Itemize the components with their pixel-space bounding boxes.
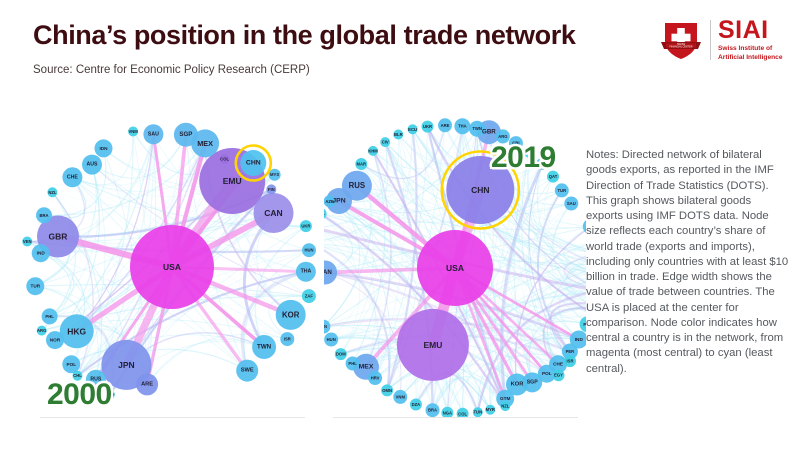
graph-node-ven[interactable] — [22, 237, 32, 247]
graph-node-usa[interactable] — [130, 225, 214, 309]
graph-node-can[interactable] — [324, 261, 337, 285]
logo-wordmark: SIAI Swiss Institute of Artificial Intel… — [718, 18, 783, 61]
graph-node-mar[interactable] — [355, 158, 367, 170]
graph-node-twn[interactable] — [252, 335, 276, 359]
logo-subtitle: Swiss Institute of Artificial Intelligen… — [718, 45, 783, 61]
graph-node-chl[interactable] — [73, 371, 83, 381]
network-graph-2000: USAEMUJPNCANGBRHKGMEXKORCHNTWNSGPSWEARES… — [22, 112, 322, 422]
graph-node-hou[interactable] — [105, 390, 115, 400]
graph-node-kor[interactable] — [276, 300, 306, 330]
graph-node-usa[interactable] — [417, 230, 493, 306]
graph-node-irq[interactable] — [524, 146, 536, 158]
graph-node-che[interactable] — [62, 167, 82, 187]
graph-node-ukr[interactable] — [422, 121, 434, 133]
logo-brand-name: SIAI — [718, 18, 783, 43]
graph-node-pol[interactable] — [62, 355, 80, 373]
graph-node-myr[interactable] — [485, 405, 495, 415]
graph-node-can[interactable] — [254, 193, 294, 233]
graph-node-blr[interactable] — [393, 130, 403, 140]
graph-node-bra[interactable] — [426, 403, 440, 417]
graph-node-idn[interactable] — [95, 139, 113, 157]
graph-node-are[interactable] — [136, 373, 158, 395]
graph-node-egy[interactable] — [553, 369, 565, 381]
graph-node-chn[interactable] — [446, 156, 514, 224]
network-graph-2019-canvas: USACHNEMURUSJPNMEXGBRKORGTMSGPPOLCHEPERI… — [324, 118, 586, 418]
graph-node-col[interactable] — [220, 154, 230, 164]
graph-node-phl[interactable] — [346, 357, 360, 371]
graph-node-emu[interactable] — [397, 309, 469, 381]
notes-paragraph: Notes: Directed network of bilateral goo… — [586, 148, 790, 377]
network-graph-2019: USACHNEMURUSJPNMEXGBRKORGTMSGPPOLCHEPERI… — [324, 118, 586, 418]
slide-root: China’s position in the global trade net… — [0, 0, 800, 450]
swiss-shield-icon: SWISS FINANCIAL CENTER — [659, 18, 703, 62]
graph-node-ecu[interactable] — [408, 124, 418, 134]
graph-node-isr[interactable] — [280, 332, 294, 346]
graph-node-zaf[interactable] — [302, 289, 316, 303]
panel-baseline-2019 — [333, 417, 578, 418]
graph-node-ind[interactable] — [32, 244, 50, 262]
panel-baseline-2000 — [40, 417, 305, 418]
network-graph-2000-canvas: USAEMUJPNCANGBRHKGMEXKORCHNTWNSGPSWEARES… — [22, 112, 322, 422]
graph-node-hrv[interactable] — [368, 371, 382, 385]
graph-node-are[interactable] — [438, 118, 452, 132]
graph-node-sau[interactable] — [143, 124, 163, 144]
graph-node-omn[interactable] — [381, 384, 393, 396]
graph-node-arg[interactable] — [496, 129, 510, 143]
graph-node-tur[interactable] — [555, 183, 569, 197]
graph-node-dnk[interactable] — [536, 158, 548, 170]
svg-text:FINANCIAL CENTER: FINANCIAL CENTER — [670, 46, 693, 49]
page-title: China’s position in the global trade net… — [33, 20, 575, 51]
graph-node-qat[interactable] — [547, 171, 559, 183]
graph-node-chn[interactable] — [240, 150, 266, 176]
graph-node-aus[interactable] — [82, 155, 102, 175]
graph-edge — [27, 242, 98, 380]
graph-node-nzl[interactable] — [47, 187, 57, 197]
graph-node-phl[interactable] — [42, 308, 58, 324]
graph-node-tur[interactable] — [26, 277, 44, 295]
source-caption: Source: Centre for Economic Policy Resea… — [33, 64, 310, 76]
graph-node-sgp[interactable] — [174, 123, 198, 147]
logo-divider — [710, 20, 711, 60]
graph-node-idn[interactable] — [324, 320, 330, 334]
graph-node-aze[interactable] — [324, 195, 336, 207]
siai-logo: SWISS FINANCIAL CENTER SIAI Swiss Instit… — [659, 14, 791, 66]
graph-node-fin[interactable] — [266, 184, 276, 194]
graph-node-dza[interactable] — [410, 399, 422, 411]
graph-node-nor[interactable] — [46, 331, 64, 349]
graph-node-arg[interactable] — [37, 326, 47, 336]
logo-subtitle-line2: Artificial Intelligence — [718, 54, 783, 62]
graph-node-khm[interactable] — [368, 146, 378, 156]
graph-node-tha[interactable] — [296, 262, 316, 282]
graph-node-nzl[interactable] — [500, 401, 510, 411]
graph-node-twn[interactable] — [469, 121, 485, 137]
graph-node-dom[interactable] — [335, 348, 347, 360]
graph-node-rus[interactable] — [86, 370, 106, 390]
graph-node-cri[interactable] — [509, 136, 523, 150]
graph-node-swe[interactable] — [236, 360, 258, 382]
graph-node-isr[interactable] — [564, 355, 576, 367]
logo-subtitle-line1: Swiss Institute of — [718, 45, 783, 53]
graph-node-bra[interactable] — [36, 207, 52, 223]
graph-node-civ[interactable] — [380, 137, 390, 147]
graph-node-vnm[interactable] — [128, 127, 138, 137]
graph-node-hun[interactable] — [324, 333, 338, 347]
graph-node-hkg[interactable] — [60, 314, 94, 348]
graph-node-sau[interactable] — [564, 197, 578, 211]
graph-node-hun[interactable] — [302, 243, 316, 257]
graph-node-ukr[interactable] — [300, 220, 312, 232]
graph-node-vnm[interactable] — [393, 390, 407, 404]
graph-node-tun[interactable] — [473, 407, 483, 417]
graph-node-tha[interactable] — [454, 118, 470, 134]
